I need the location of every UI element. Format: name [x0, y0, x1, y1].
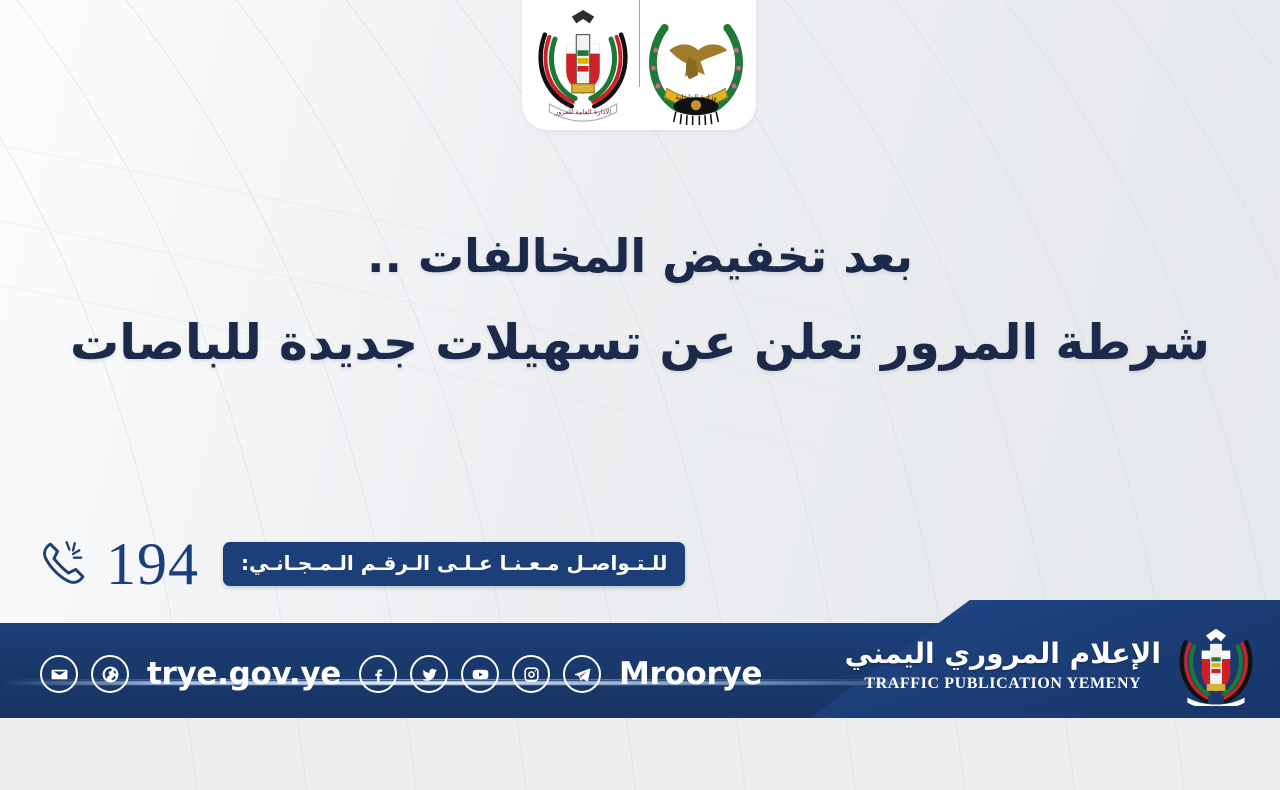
hotline-label: للـتـواصـل مـعـنـا عـلـى الـرقـم الـمـجـ…: [223, 542, 685, 586]
youtube-icon[interactable]: [461, 655, 499, 693]
yemen-traffic-emblem: [1174, 622, 1258, 706]
hotline-number: 194: [106, 534, 199, 594]
facebook-icon[interactable]: [359, 655, 397, 693]
footer-bar: trye.gov.ye Mroorye: [0, 600, 1280, 718]
telegram-icon[interactable]: [563, 655, 601, 693]
social-links-row: trye.gov.ye Mroorye: [40, 655, 767, 693]
instagram-icon[interactable]: [512, 655, 550, 693]
brand-name-arabic: الإعلام المروري اليمني: [845, 636, 1161, 671]
header-logo-card: الادارة العامة للمرور وزارة الداخلية: [522, 0, 756, 130]
brand-lockup: الإعلام المروري اليمني TRAFFIC PUBLICATI…: [845, 622, 1258, 706]
headline-line-2: شرطة المرور تعلن عن تسهيلات جديدة للباصا…: [0, 309, 1280, 378]
brand-name-english: TRAFFIC PUBLICATION YEMENY: [845, 675, 1161, 693]
social-handle[interactable]: Mroorye: [619, 659, 762, 690]
ringing-phone-icon: [34, 535, 92, 593]
email-icon[interactable]: [40, 655, 78, 693]
hotline-row: 194 للـتـواصـل مـعـنـا عـلـى الـرقـم الـ…: [34, 528, 685, 600]
brand-text: الإعلام المروري اليمني TRAFFIC PUBLICATI…: [845, 636, 1161, 693]
yemen-general-traffic-authority-emblem: الادارة العامة للمرور: [527, 2, 639, 124]
twitter-icon[interactable]: [410, 655, 448, 693]
globe-icon[interactable]: [91, 655, 129, 693]
headline: بعد تخفيض المخالفات .. شرطة المرور تعلن …: [0, 225, 1280, 378]
website-url[interactable]: trye.gov.ye: [147, 659, 341, 690]
headline-line-1: بعد تخفيض المخالفات ..: [0, 225, 1280, 287]
yemen-ministry-of-interior-emblem: وزارة الداخلية: [640, 2, 752, 124]
svg-text:الادارة العامة للمرور: الادارة العامة للمرور: [553, 109, 610, 117]
